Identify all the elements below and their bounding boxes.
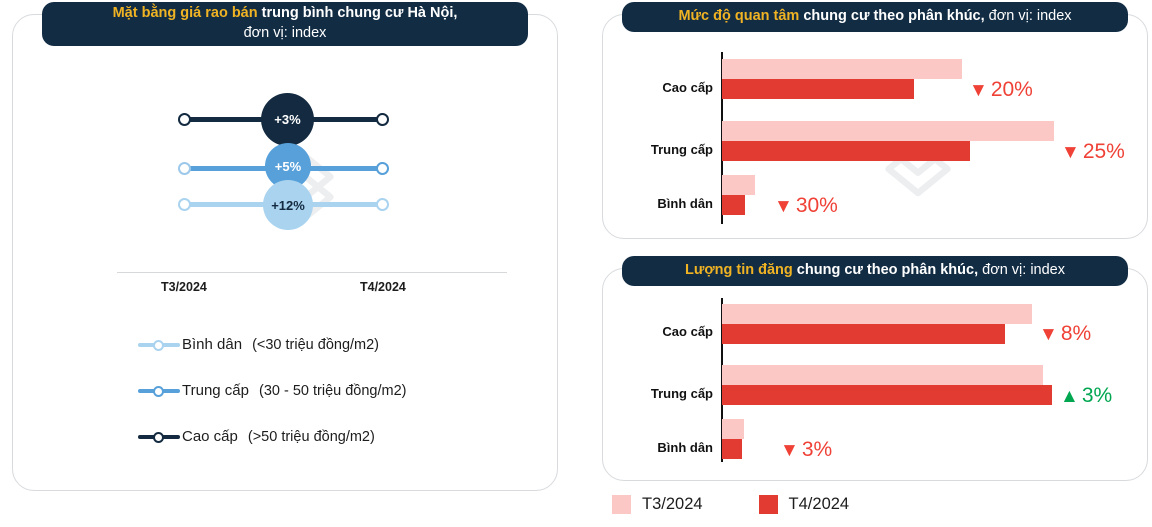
bar-t4-cao-cap — [722, 324, 1005, 344]
legend-item-trung-cap: Trung cấp (30 - 50 triệu đồng/m2) — [138, 382, 406, 399]
bar-t3-binh-dan — [722, 419, 744, 439]
legend-label: Cao cấp — [182, 428, 238, 445]
bar-t3-trung-cap — [722, 365, 1043, 385]
delta-cao-cap: ▼ 8% — [1039, 322, 1091, 346]
title-highlight: Lượng tin đăng — [685, 262, 793, 278]
bar-t4-binh-dan — [722, 439, 742, 459]
delta-value: 3% — [1082, 384, 1112, 408]
slope-endpoint-t3 — [178, 198, 191, 211]
slope-endpoint-t4 — [376, 162, 389, 175]
slope-endpoint-t4 — [376, 113, 389, 126]
delta-value: 25% — [1083, 140, 1125, 164]
price-chart-title: Mặt bằng giá rao bán trung bình chung cư… — [42, 2, 528, 46]
series-legend-label: T4/2024 — [789, 495, 850, 514]
triangle-up-icon: ▲ — [1060, 387, 1079, 406]
delta-cao-cap: ▼ 20% — [969, 78, 1033, 102]
axis-label-t3: T3/2024 — [161, 280, 207, 294]
category-label-trung-cap: Trung cấp — [621, 386, 713, 401]
series-legend-item-t4: T4/2024 — [759, 495, 850, 514]
category-label-cao-cap: Cao cấp — [621, 80, 713, 95]
bar-t4-binh-dan — [722, 195, 745, 215]
legend-label: Bình dân — [182, 336, 242, 353]
series-legend: T3/2024 T4/2024 — [612, 495, 849, 514]
legend-marker-icon — [138, 431, 180, 443]
category-label-trung-cap: Trung cấp — [621, 142, 713, 157]
category-label-binh-dan: Bình dân — [621, 440, 713, 455]
title-subline: đơn vị: index — [244, 24, 327, 44]
interest-bar-chart: Cao cấp ▼ 20% Trung cấp ▼ 25% Bình dân ▼… — [602, 14, 1148, 239]
title-bold: trung bình chung cư Hà Nội, — [258, 5, 458, 21]
legend-range: (30 - 50 triệu đồng/m2) — [259, 383, 407, 399]
bar-t3-cao-cap — [722, 59, 962, 79]
color-swatch-t4 — [759, 495, 778, 514]
bar-t4-cao-cap — [722, 79, 914, 99]
legend-marker-icon — [138, 339, 180, 351]
bar-t3-binh-dan — [722, 175, 755, 195]
bar-t4-trung-cap — [722, 385, 1052, 405]
listing-chart-title: Lượng tin đăng chung cư theo phân khúc, … — [622, 256, 1128, 286]
triangle-down-icon: ▼ — [780, 441, 799, 460]
color-swatch-t3 — [612, 495, 631, 514]
bar-t3-trung-cap — [722, 121, 1054, 141]
slope-endpoint-t4 — [376, 198, 389, 211]
delta-binh-dan: ▼ 30% — [774, 194, 838, 218]
interest-chart-title: Mức độ quan tâm chung cư theo phân khúc,… — [622, 2, 1128, 32]
delta-value: 3% — [802, 438, 832, 462]
bar-t4-trung-cap — [722, 141, 970, 161]
triangle-down-icon: ▼ — [969, 81, 988, 100]
title-highlight: Mức độ quan tâm — [678, 8, 799, 24]
series-legend-label: T3/2024 — [642, 495, 703, 514]
price-slope-chart: +3% +5% +12% T3/2024 T4/2024 Bình dân (<… — [12, 14, 558, 491]
axis-label-t4: T4/2024 — [360, 280, 406, 294]
slope-endpoint-t3 — [178, 113, 191, 126]
legend-label: Trung cấp — [182, 382, 249, 399]
legend-item-cao-cap: Cao cấp (>50 triệu đồng/m2) — [138, 428, 375, 445]
title-bold: chung cư theo phân khúc, — [799, 8, 984, 24]
title-highlight: Mặt bằng giá rao bán — [113, 5, 258, 21]
title-bold: chung cư theo phân khúc, — [793, 262, 978, 278]
slope-change-badge: +3% — [261, 93, 314, 146]
delta-trung-cap: ▼ 25% — [1061, 140, 1125, 164]
triangle-down-icon: ▼ — [774, 197, 793, 216]
title-unit: đơn vị: index — [978, 262, 1065, 278]
delta-value: 30% — [796, 194, 838, 218]
listing-bar-chart: Cao cấp ▼ 8% Trung cấp ▲ 3% Bình dân ▼ 3… — [602, 268, 1148, 481]
title-unit: đơn vị: index — [985, 8, 1072, 24]
category-label-binh-dan: Bình dân — [621, 196, 713, 211]
legend-item-binh-dan: Bình dân (<30 triệu đồng/m2) — [138, 336, 379, 353]
delta-value: 8% — [1061, 322, 1091, 346]
delta-value: 20% — [991, 78, 1033, 102]
legend-marker-icon — [138, 385, 180, 397]
slope-endpoint-t3 — [178, 162, 191, 175]
category-label-cao-cap: Cao cấp — [621, 324, 713, 339]
triangle-down-icon: ▼ — [1039, 325, 1058, 344]
slope-change-badge: +12% — [263, 180, 313, 230]
series-legend-item-t3: T3/2024 — [612, 495, 703, 514]
delta-binh-dan: ▼ 3% — [780, 438, 832, 462]
axis-divider — [117, 272, 507, 273]
legend-range: (>50 triệu đồng/m2) — [248, 429, 375, 445]
bar-t3-cao-cap — [722, 304, 1032, 324]
legend-range: (<30 triệu đồng/m2) — [252, 337, 379, 353]
delta-trung-cap: ▲ 3% — [1060, 384, 1112, 408]
triangle-down-icon: ▼ — [1061, 143, 1080, 162]
